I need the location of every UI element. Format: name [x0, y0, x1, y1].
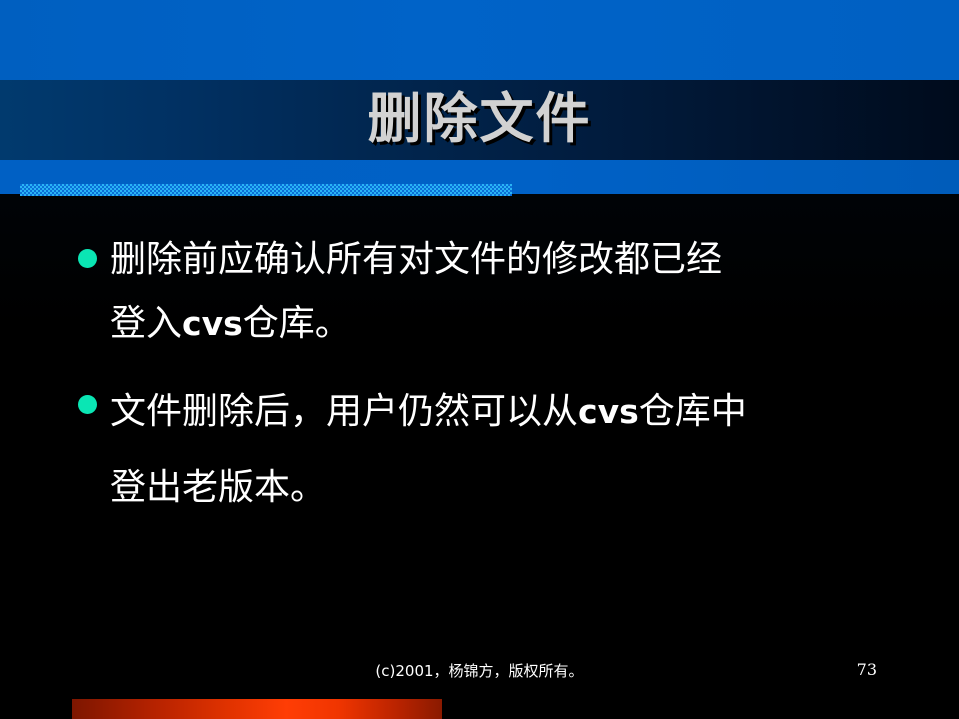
footer-copyright: (c)2001，杨锦方，版权所有。	[0, 660, 959, 681]
slide-top-background	[0, 0, 959, 80]
bullet-line-latin: cvs	[182, 304, 243, 343]
bullet-item: 删除前应确认所有对文件的修改都已经 登入cvs仓库。	[78, 228, 908, 356]
title-divider-rule	[20, 184, 512, 196]
presentation-slide: 删除文件 删除前应确认所有对文件的修改都已经 登入cvs仓库。 文件删除后，用户…	[0, 0, 959, 719]
bullet-line-latin: cvs	[578, 392, 639, 431]
bullet-item-text: 文件删除后，用户仍然可以从cvs仓库中 登出老版本。	[110, 374, 908, 526]
bullet-line-suffix: 仓库中	[639, 391, 747, 432]
filled-circle-bullet-icon	[78, 249, 97, 268]
accent-bar-bottom-left	[72, 699, 442, 719]
bullet-line: 登出老版本。	[110, 467, 326, 508]
bullet-item: 文件删除后，用户仍然可以从cvs仓库中 登出老版本。	[78, 374, 908, 526]
slide-body: 删除前应确认所有对文件的修改都已经 登入cvs仓库。 文件删除后，用户仍然可以从…	[78, 228, 908, 544]
bullet-item-text: 删除前应确认所有对文件的修改都已经 登入cvs仓库。	[110, 228, 908, 356]
bullet-line-prefix: 文件删除后，用户仍然可以从	[110, 391, 578, 432]
bullet-line: 删除前应确认所有对文件的修改都已经	[110, 239, 722, 280]
filled-circle-bullet-icon	[78, 395, 97, 414]
slide-title: 删除文件	[0, 85, 959, 151]
footer-page-number: 73	[857, 660, 877, 679]
bullet-line-suffix: 仓库。	[243, 303, 351, 344]
bullet-line-prefix: 登入	[110, 303, 182, 344]
